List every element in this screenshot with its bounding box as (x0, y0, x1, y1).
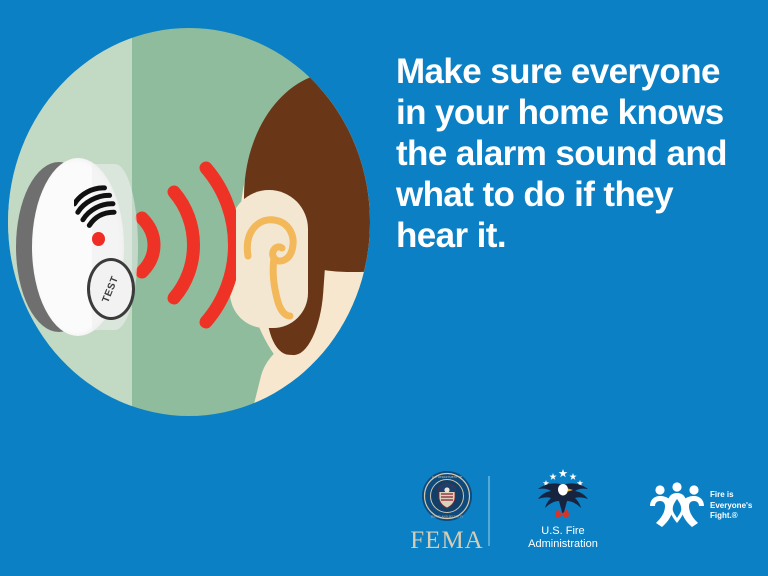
alarm-vent-icon (74, 184, 118, 228)
fema-logo: U.S. DEPARTMENT OF HOMELAND SECURITY FEM… (392, 470, 502, 560)
alarm-test-button[interactable]: TEST (87, 258, 135, 320)
footer-logos: U.S. DEPARTMENT OF HOMELAND SECURITY FEM… (380, 462, 768, 572)
people-around-flame-icon (648, 482, 706, 530)
fire-is-everyones-fight-logo: Fire is Everyone's Fight.® (648, 476, 768, 536)
ear-outline-icon (234, 198, 304, 326)
smoke-alarm: TEST (16, 158, 134, 338)
logo-divider (488, 476, 490, 546)
usfa-eagle-emblem-icon (532, 468, 594, 522)
illustration-circle: TEST (8, 28, 370, 416)
alarm-led-indicator (92, 232, 105, 246)
sound-waves-icon (128, 148, 236, 338)
alarm-face: TEST (32, 158, 124, 336)
usfa-wordmark: U.S. Fire Administration (528, 525, 598, 552)
fema-wordmark: FEMA (410, 528, 483, 553)
poster-canvas: TEST Make sure everyone in your home kno… (0, 0, 768, 576)
alarm-test-button-label: TEST (101, 274, 122, 304)
dhs-seal-icon: U.S. DEPARTMENT OF HOMELAND SECURITY (421, 470, 473, 522)
svg-text:HOMELAND SECURITY: HOMELAND SECURITY (431, 515, 464, 519)
headline-text: Make sure everyone in your home knows th… (396, 52, 744, 257)
usfa-logo: U.S. Fire Administration (508, 468, 618, 564)
svg-text:U.S. DEPARTMENT OF: U.S. DEPARTMENT OF (432, 475, 463, 479)
fire-is-everyones-fight-wordmark: Fire is Everyone's Fight.® (710, 490, 752, 521)
